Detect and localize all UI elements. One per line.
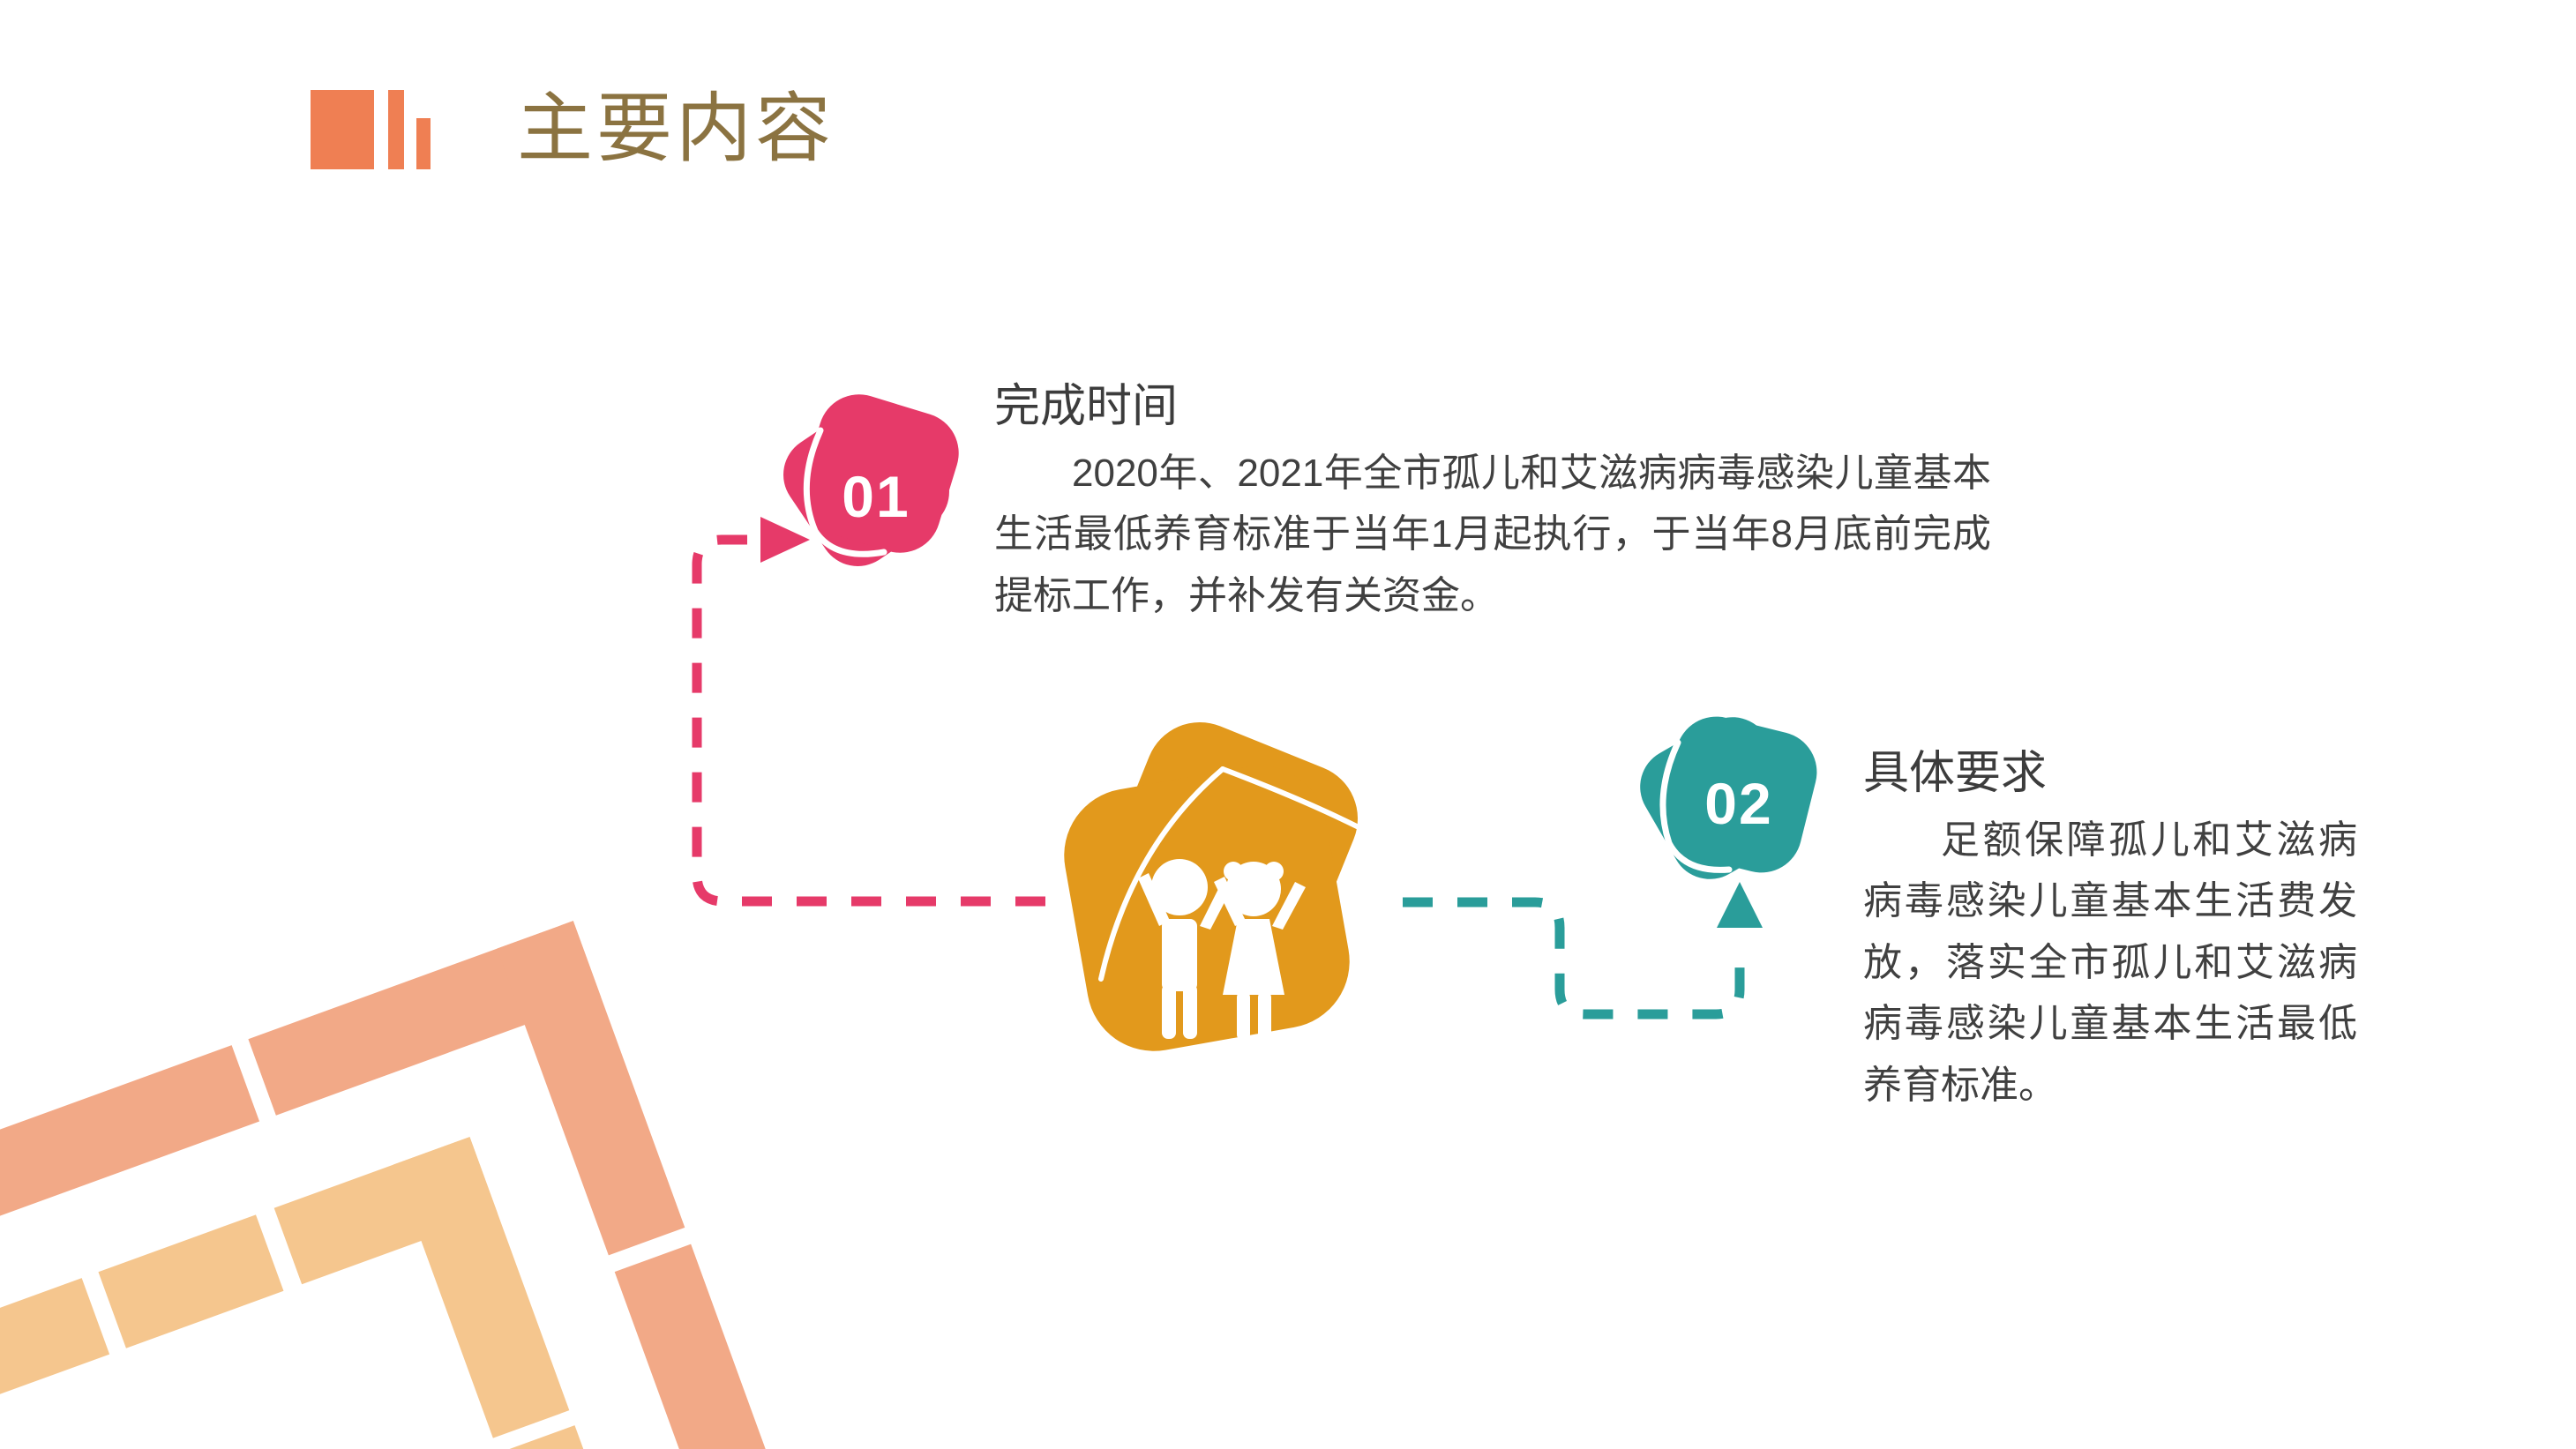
content-heading-01: 完成时间 [994, 381, 1991, 434]
badge-02[interactable]: 02 [1634, 697, 1837, 900]
slide-canvas: 主要内容 01 02 [0, 0, 2576, 1449]
logo-bar-large [311, 90, 374, 169]
logo-bar-small [416, 118, 431, 169]
page-title: 主要内容 [517, 91, 835, 167]
slide-header: 主要内容 [311, 88, 835, 169]
badge-02-number: 02 [1637, 702, 1840, 905]
content-block-01: 完成时间 2020年、2021年全市孤儿和艾滋病病毒感染儿童基本生活最低养育标准… [994, 381, 1991, 626]
corner-maze-decoration [0, 779, 794, 1449]
bar-chart-logo-icon [311, 88, 431, 169]
center-icon-frontplate [1053, 755, 1360, 1062]
content-body-02: 足额保障孤儿和艾滋病病毒感染儿童基本生活费发放，落实全市孤儿和艾滋病病毒感染儿童… [1863, 810, 2357, 1117]
content-heading-02: 具体要求 [1863, 748, 2357, 801]
badge-01[interactable]: 01 [769, 379, 972, 582]
deco-outer-corner [0, 921, 782, 1449]
content-body-01: 2020年、2021年全市孤儿和艾滋病病毒感染儿童基本生活最低养育标准于当年1月… [994, 443, 1991, 627]
connector-path-02 [1403, 902, 1740, 1014]
logo-bar-medium [388, 90, 404, 169]
deco-inner-corner [0, 1137, 648, 1449]
content-block-02: 具体要求 足额保障孤儿和艾滋病病毒感染儿童基本生活费发放，落实全市孤儿和艾滋病病… [1863, 748, 2357, 1116]
badge-01-number: 01 [775, 395, 977, 598]
two-children-holding-hands-icon[interactable] [1050, 714, 1420, 1085]
